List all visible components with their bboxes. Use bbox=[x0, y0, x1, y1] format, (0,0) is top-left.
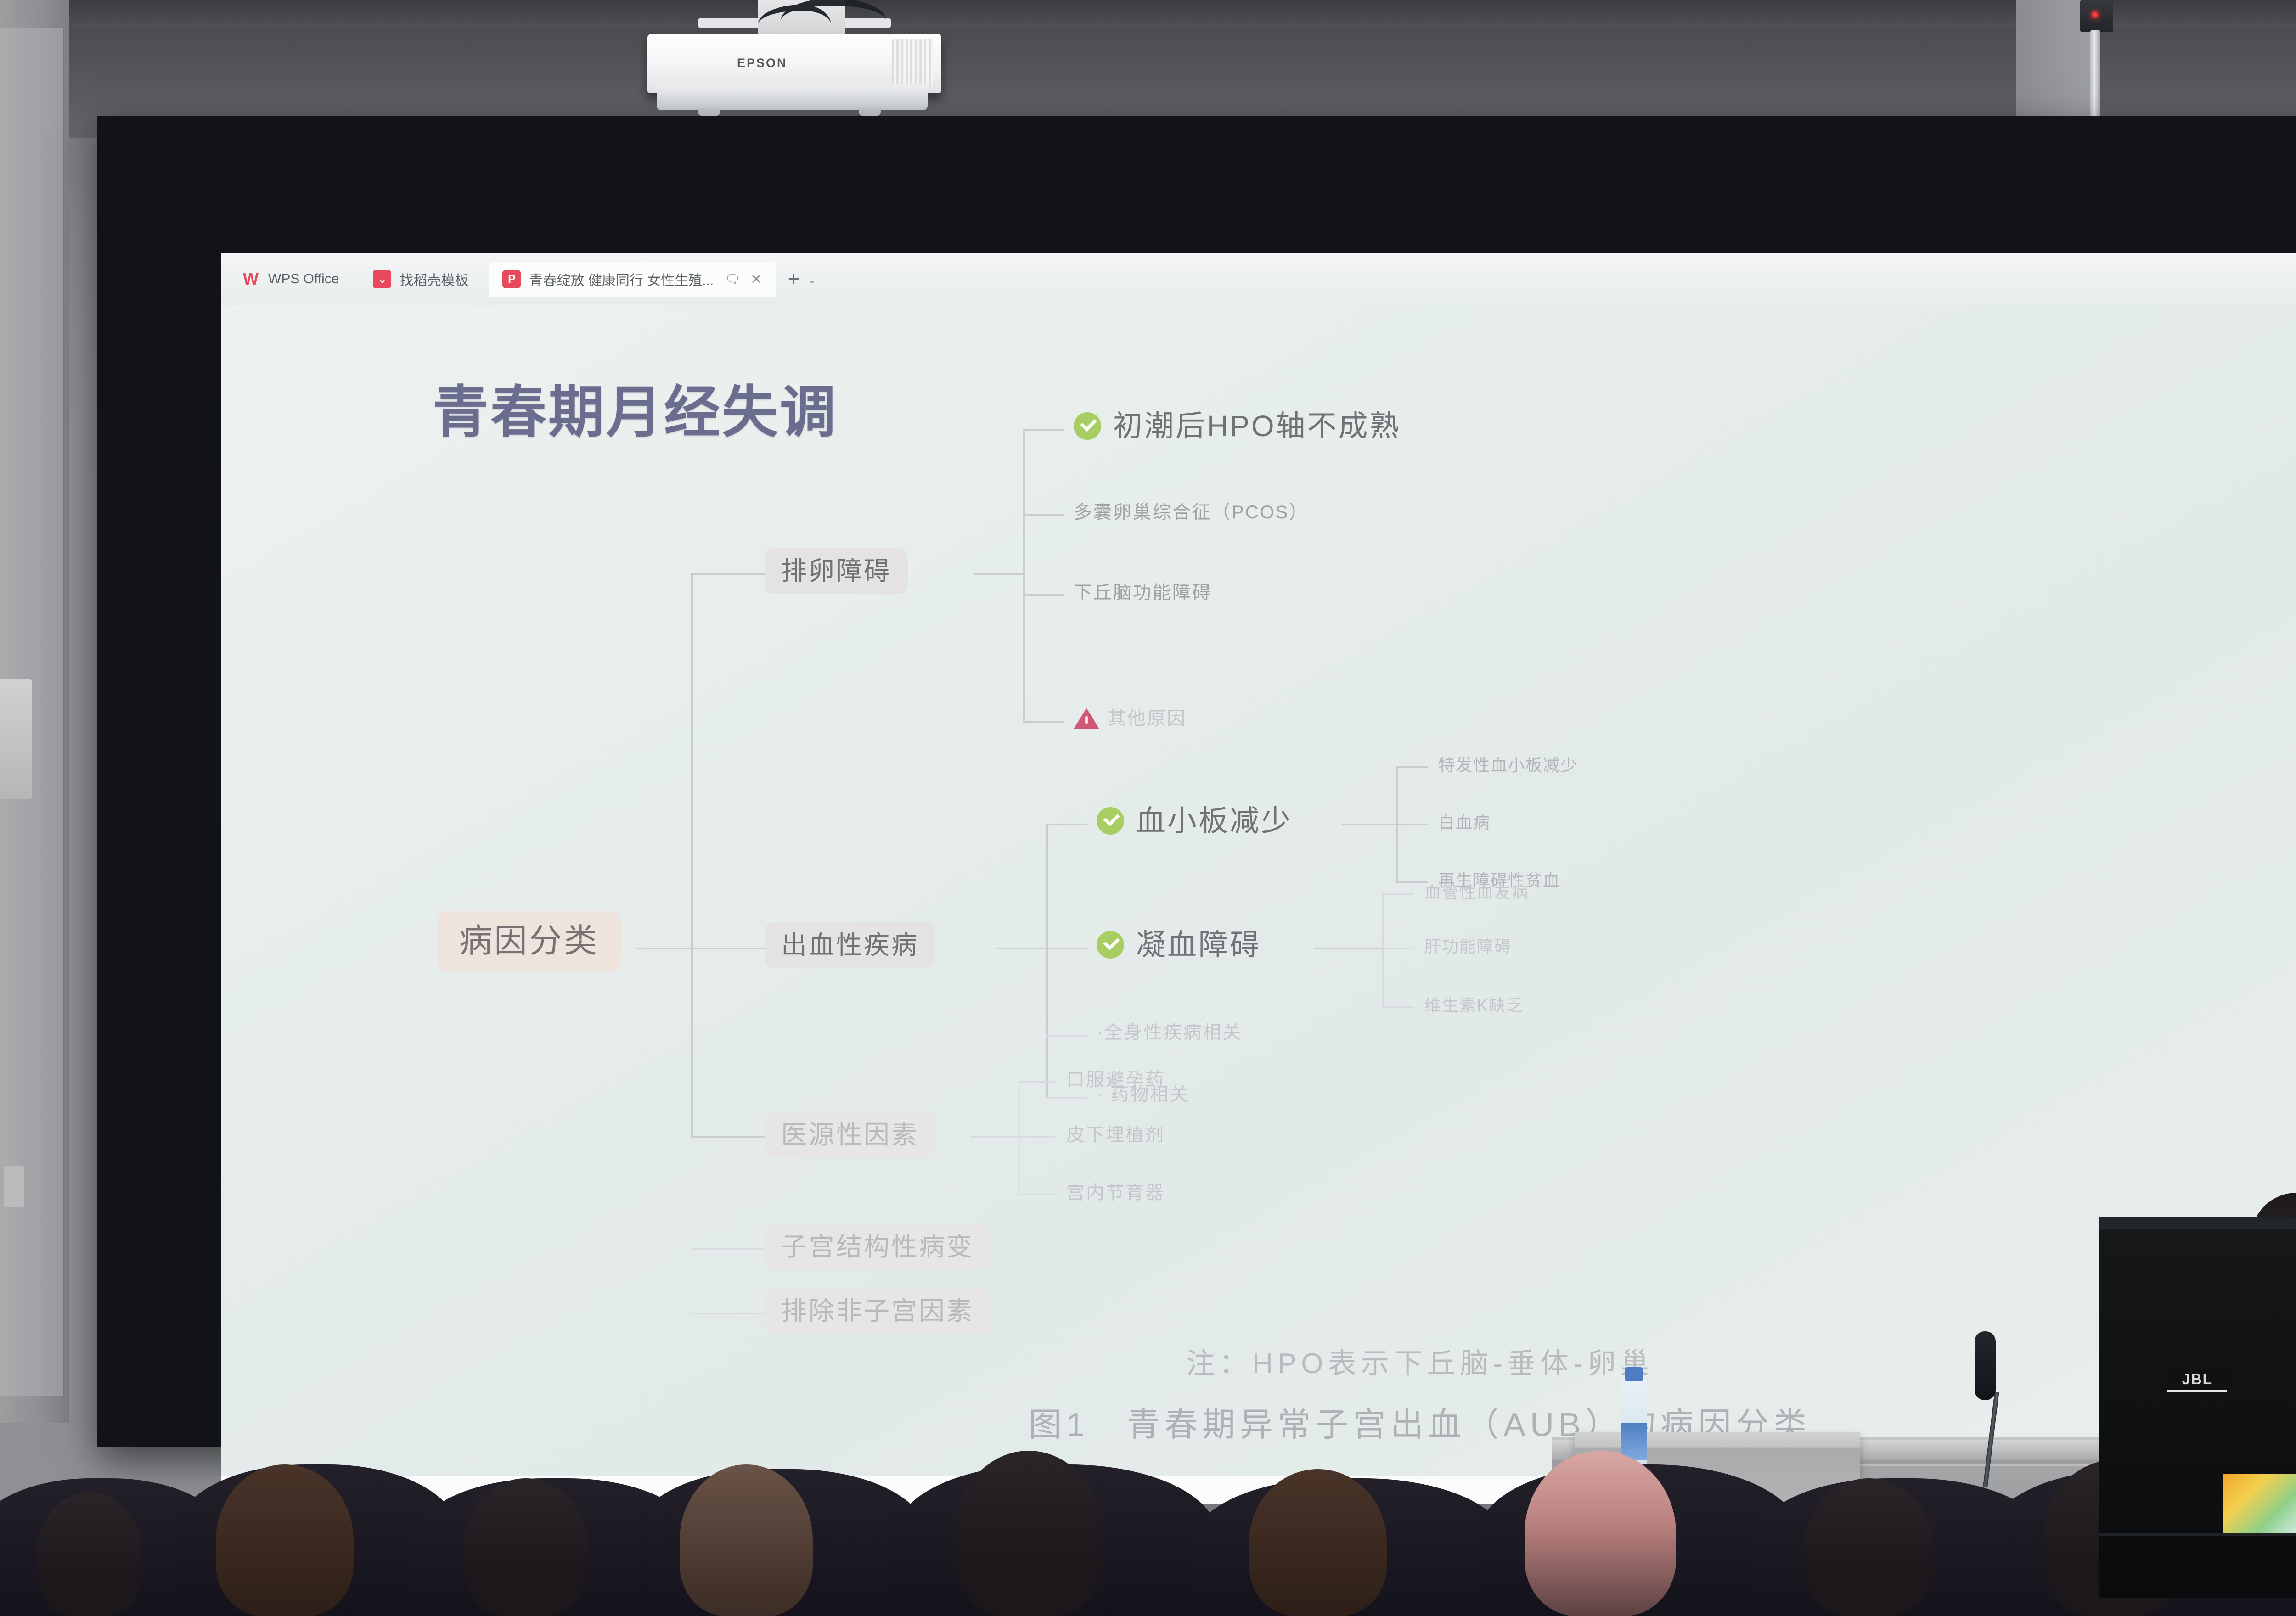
leaf-label: ·全身性疾病相关 bbox=[1097, 1023, 1242, 1042]
desk-microphone-head bbox=[1975, 1331, 1996, 1400]
branch-label-1: 排卵障碍 bbox=[765, 548, 908, 594]
connector-b2c1-out bbox=[1342, 824, 1397, 825]
presentation-icon: P bbox=[502, 270, 521, 288]
leaf-label: 皮下埋植剂 bbox=[1066, 1126, 1165, 1144]
connector-b3-c3 bbox=[1019, 1194, 1055, 1195]
tab-label-docer: 找稻壳模板 bbox=[400, 269, 468, 289]
ceiling-band bbox=[0, 0, 2296, 28]
warning-triangle-icon bbox=[1074, 708, 1099, 729]
connector-b2c1-g1 bbox=[1396, 766, 1428, 768]
leaf-vwd: 血管性血友病 bbox=[1424, 884, 1529, 901]
connector-b3-out bbox=[970, 1136, 1019, 1138]
leaf-label: 血管性血友病 bbox=[1424, 884, 1529, 901]
tab-label-presentation: 青春绽放 健康同行 女性生殖... bbox=[529, 269, 714, 289]
projector-brand-label: EPSON bbox=[737, 56, 788, 70]
new-tab-button[interactable]: + bbox=[788, 268, 800, 291]
leaf-itp: 特发性血小板减少 bbox=[1438, 757, 1578, 774]
stage-foreground: 赖国丽 bbox=[0, 1249, 2296, 1598]
tab-label-wps: WPS Office bbox=[268, 271, 339, 287]
leaf-oral-contraceptive: 口服避孕药 bbox=[1066, 1071, 1165, 1089]
leaf-label: 特发性血小板减少 bbox=[1438, 757, 1578, 774]
connector-b2c1-g3 bbox=[1396, 881, 1428, 883]
wps-title-bar: W WPS Office ⌄ 找稻壳模板 P 青春绽放 健康同行 女性生殖...… bbox=[221, 253, 2296, 305]
connector-b1-c1 bbox=[1023, 429, 1064, 431]
check-circle-icon bbox=[1097, 931, 1124, 959]
connector-to-branch-3 bbox=[691, 1136, 765, 1138]
leaf-label: 口服避孕药 bbox=[1066, 1071, 1165, 1089]
projector-body: EPSON bbox=[647, 34, 941, 93]
leaf-coagulopathy: 凝血障碍 bbox=[1097, 930, 1261, 959]
branch-node-iatrogenic: 医源性因素 bbox=[765, 1112, 935, 1158]
tab-presentation[interactable]: P 青春绽放 健康同行 女性生殖... 🗨 ✕ bbox=[489, 262, 776, 297]
leaf-label: 白血病 bbox=[1438, 814, 1491, 831]
connector-b1-c2 bbox=[1023, 514, 1064, 516]
audience bbox=[0, 1405, 2296, 1598]
connector-b1-spine bbox=[1023, 429, 1025, 723]
connector-b3-c1 bbox=[1019, 1081, 1055, 1083]
connector-b1-out bbox=[974, 573, 1024, 575]
root-node-label: 病因分类 bbox=[437, 911, 621, 971]
leaf-other-causes: 其他原因 bbox=[1074, 708, 1187, 729]
connector-root-spine bbox=[691, 573, 693, 1136]
connector-b2-c2 bbox=[1046, 948, 1087, 949]
leaf-liver-dysfunction: 肝功能障碍 bbox=[1424, 938, 1512, 955]
leaf-label: 多囊卵巢综合征（PCOS） bbox=[1074, 503, 1309, 522]
leaf-hypothalamic: 下丘脑功能障碍 bbox=[1074, 584, 1212, 602]
connector-b2-spine bbox=[1046, 824, 1048, 1099]
leaf-subdermal-implant: 皮下埋植剂 bbox=[1066, 1126, 1165, 1144]
connector-b2-c3 bbox=[1046, 1035, 1087, 1037]
leaf-label: 血小板减少 bbox=[1136, 806, 1292, 836]
audience-head bbox=[1249, 1469, 1387, 1616]
connector-b2c2-g3 bbox=[1382, 1006, 1414, 1008]
leaf-vitk-deficiency: 维生素K缺乏 bbox=[1424, 997, 1524, 1014]
wps-logo-icon: W bbox=[242, 270, 260, 288]
connector-root-out bbox=[637, 948, 692, 949]
speaker-top bbox=[2099, 1217, 2296, 1229]
leaf-label: 肝功能障碍 bbox=[1424, 938, 1512, 955]
left-wall-plate bbox=[4, 1166, 24, 1207]
tab-wps-office[interactable]: W WPS Office bbox=[228, 262, 353, 297]
connector-b2c2-out bbox=[1314, 948, 1383, 949]
connector-b2-out bbox=[997, 948, 1047, 949]
audience-head bbox=[955, 1451, 1102, 1616]
docer-icon: ⌄ bbox=[373, 270, 391, 288]
chevron-down-icon[interactable]: ⌄ bbox=[807, 272, 817, 286]
audience-head bbox=[1805, 1478, 1933, 1616]
check-circle-icon bbox=[1097, 807, 1124, 835]
projection-screen-frame: W WPS Office ⌄ 找稻壳模板 P 青春绽放 健康同行 女性生殖...… bbox=[97, 116, 2296, 1447]
mic-status-led bbox=[2091, 11, 2099, 18]
connector-b3-c2 bbox=[1019, 1136, 1055, 1138]
tab-close-icon[interactable]: ✕ bbox=[750, 271, 762, 287]
audience-head bbox=[680, 1464, 813, 1616]
tab-docer-template[interactable]: ⌄ 找稻壳模板 bbox=[359, 262, 482, 297]
jbl-loudspeaker: JBL bbox=[2099, 1217, 2296, 1598]
branch-node-ovulation: 排卵障碍 bbox=[765, 548, 908, 594]
check-circle-icon bbox=[1074, 412, 1101, 440]
connector-b2c2-g2 bbox=[1382, 948, 1414, 949]
audience-head bbox=[216, 1464, 354, 1616]
jbl-logo: JBL bbox=[2167, 1368, 2227, 1392]
connector-b2c1-g2 bbox=[1396, 824, 1428, 825]
leaf-systemic-disease: ·全身性疾病相关 bbox=[1097, 1023, 1242, 1042]
speaker-sticker bbox=[2223, 1474, 2296, 1533]
leaf-leukemia: 白血病 bbox=[1438, 814, 1491, 831]
connector-b1-c4 bbox=[1023, 721, 1064, 723]
branch-label-3: 医源性因素 bbox=[765, 1112, 935, 1158]
lecture-room: EPSON W WPS Office ⌄ 找稻壳模板 bbox=[0, 0, 2296, 1598]
water-bottle-cap bbox=[1625, 1367, 1643, 1381]
leaf-label: 宫内节育器 bbox=[1066, 1184, 1165, 1202]
leaf-label: 维生素K缺乏 bbox=[1424, 997, 1524, 1014]
left-wall-fixture bbox=[0, 679, 32, 799]
projector-foot-left bbox=[698, 108, 720, 116]
branch-node-bleeding: 出血性疾病 bbox=[765, 922, 935, 968]
leaf-pcos: 多囊卵巢综合征（PCOS） bbox=[1074, 503, 1309, 522]
tab-comment-icon[interactable]: 🗨 bbox=[725, 272, 740, 286]
connector-b2c2-spine bbox=[1382, 893, 1384, 1008]
audience-head bbox=[1525, 1451, 1676, 1616]
connector-b2c2-g1 bbox=[1382, 893, 1414, 895]
connector-to-branch-2 bbox=[691, 948, 765, 949]
connector-to-branch-1 bbox=[691, 573, 765, 575]
leaf-label: 其他原因 bbox=[1108, 709, 1187, 728]
projector-foot-right bbox=[859, 108, 881, 116]
connector-b2-c4 bbox=[1046, 1097, 1087, 1099]
ceiling-projector: EPSON bbox=[643, 0, 964, 132]
connector-b3-spine bbox=[1019, 1081, 1020, 1195]
leaf-label: 初潮后HPO轴不成熟 bbox=[1113, 411, 1401, 441]
leaf-hpo-immature: 初潮后HPO轴不成熟 bbox=[1074, 411, 1401, 441]
leaf-thrombocytopenia: 血小板减少 bbox=[1097, 806, 1292, 836]
leaf-label: 凝血障碍 bbox=[1136, 930, 1261, 959]
speaker-seam bbox=[2099, 1533, 2296, 1536]
leaf-label: 下丘脑功能障碍 bbox=[1074, 584, 1212, 602]
leaf-iud: 宫内节育器 bbox=[1066, 1184, 1165, 1202]
connector-b1-c3 bbox=[1023, 594, 1064, 596]
mindmap-root-node: 病因分类 bbox=[437, 911, 621, 971]
projector-vent bbox=[892, 39, 933, 87]
branch-label-2: 出血性疾病 bbox=[765, 922, 935, 968]
projector-lens-housing bbox=[657, 84, 928, 110]
audience-head bbox=[464, 1478, 588, 1616]
connector-b2-c1 bbox=[1046, 824, 1087, 825]
